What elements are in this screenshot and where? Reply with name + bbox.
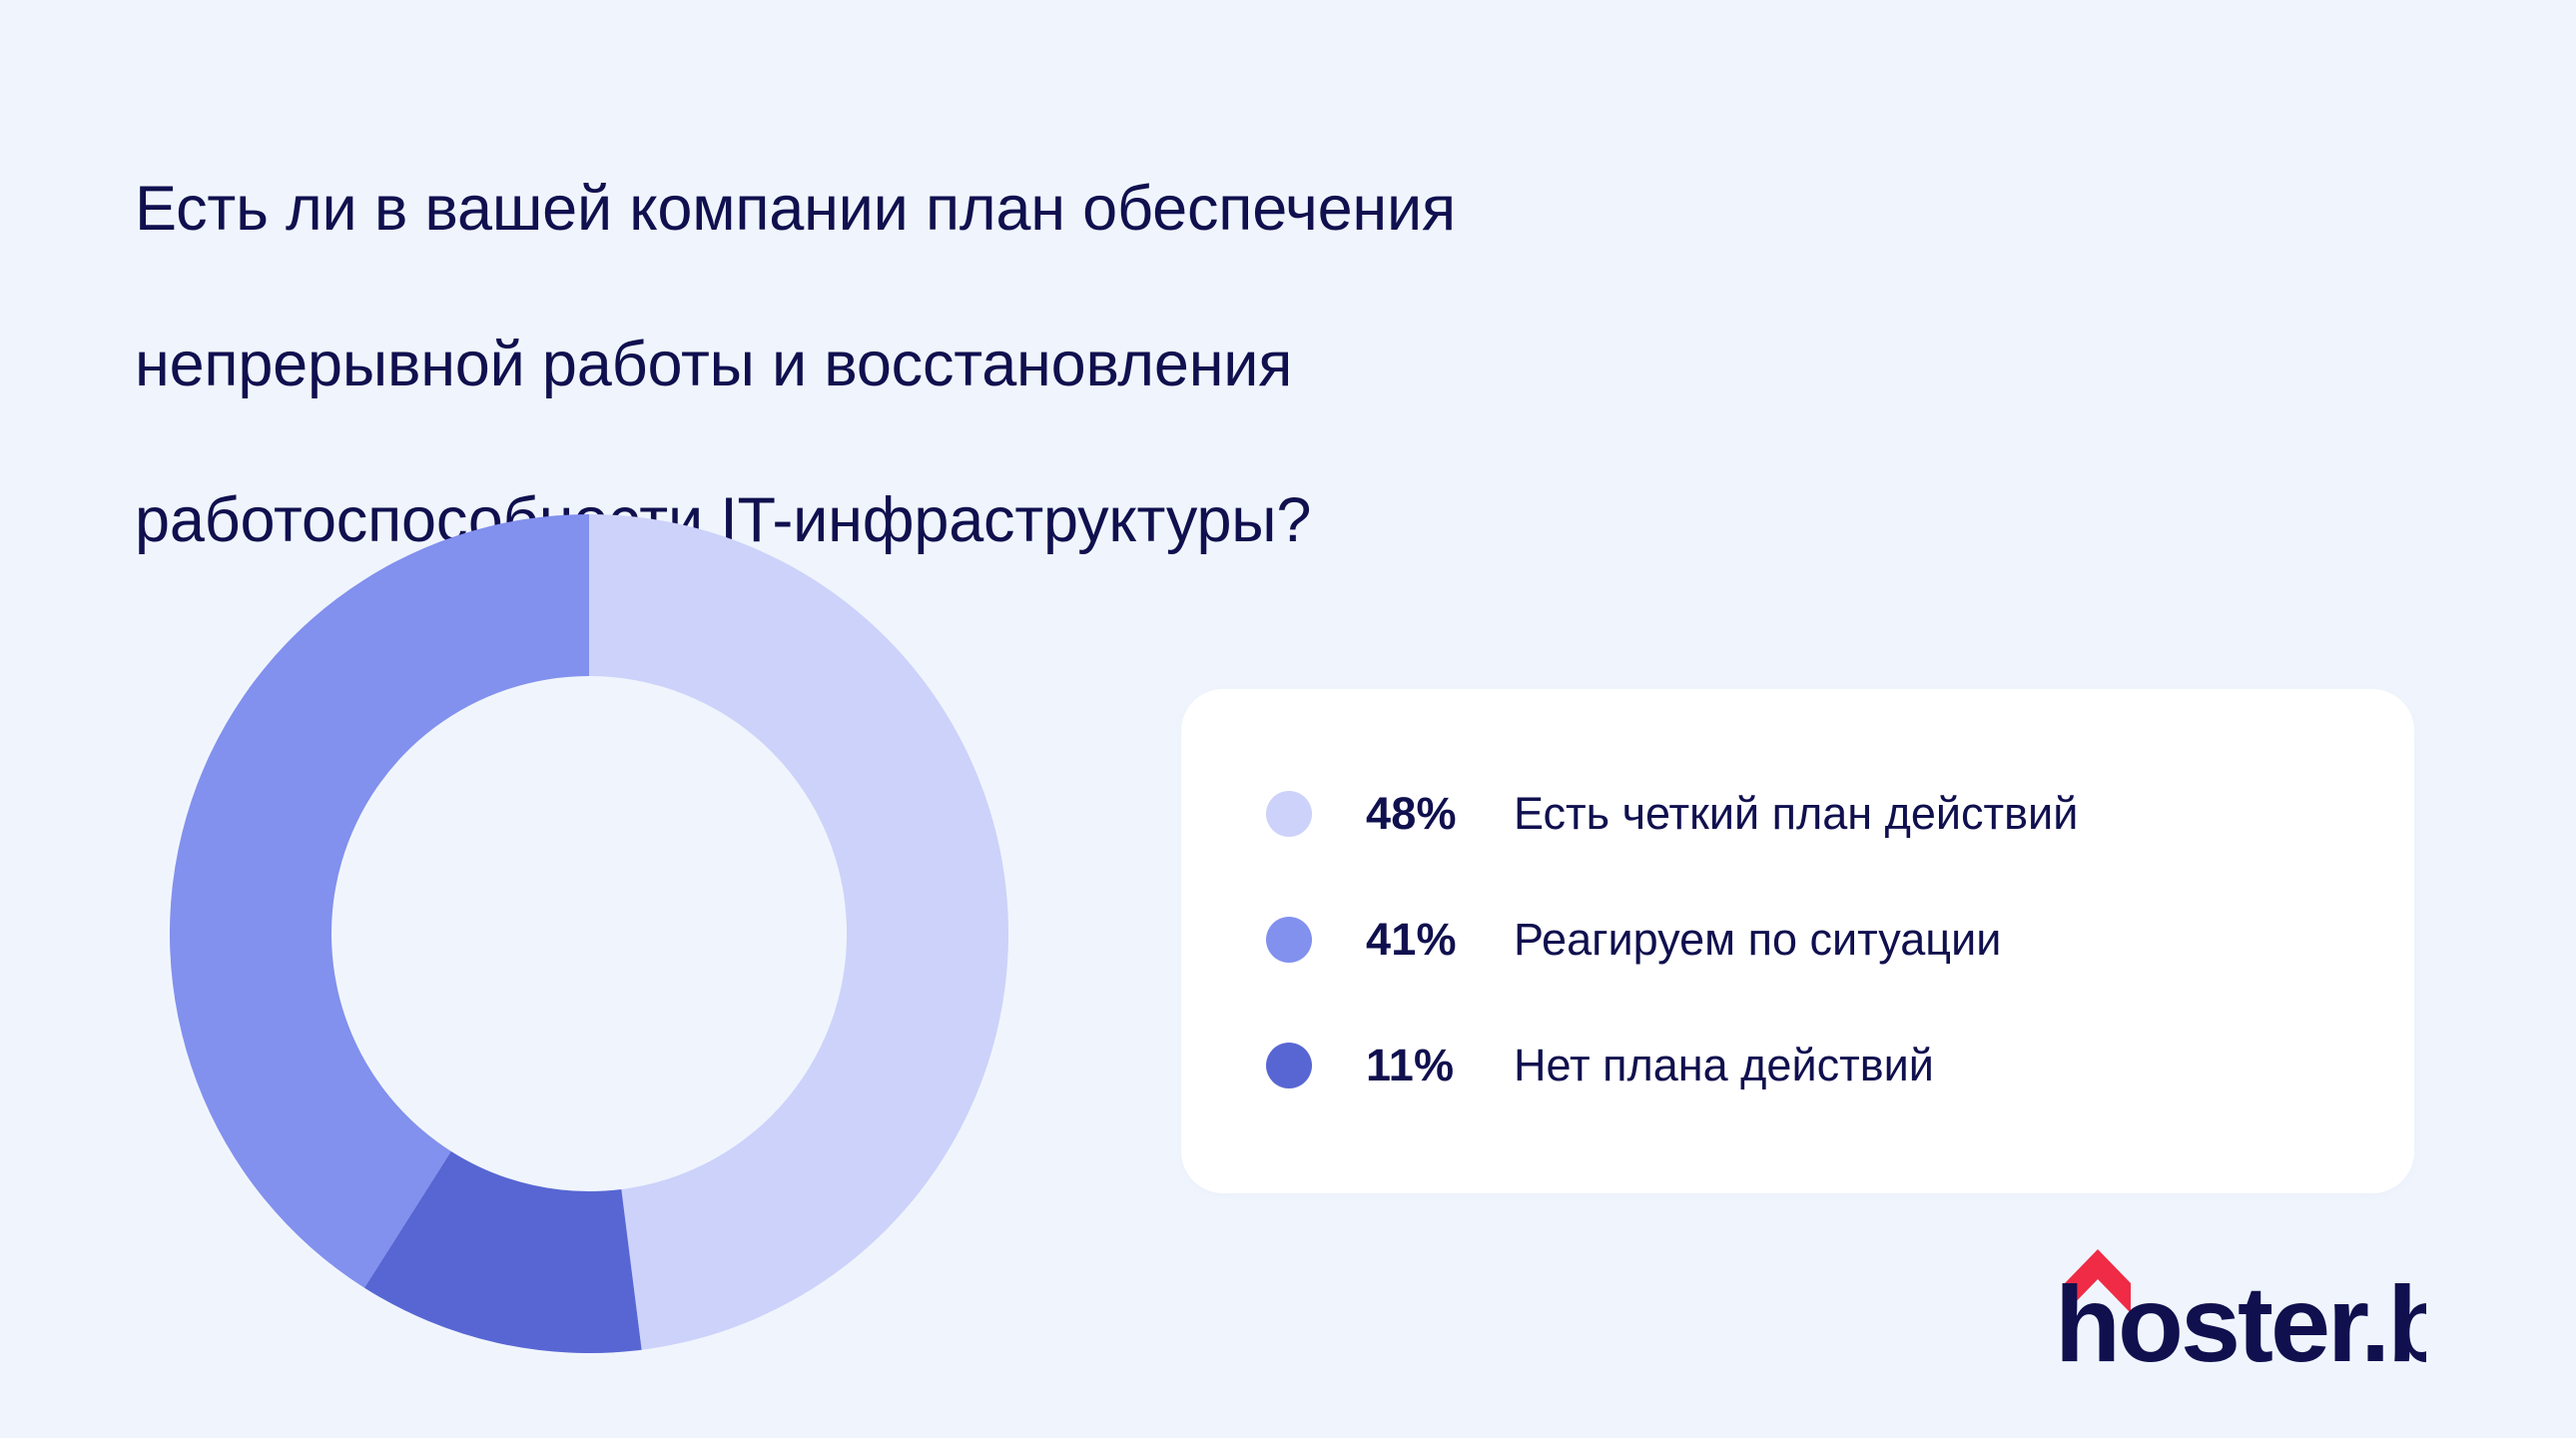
legend-swatch-icon — [1266, 917, 1312, 963]
legend-label: Реагируем по ситуации — [1514, 914, 2001, 966]
legend-item-1: 41% Реагируем по ситуации — [1266, 877, 2374, 1003]
hoster-by-logo: hoster.by — [2055, 1241, 2426, 1369]
legend-label: Нет плана действий — [1514, 1040, 1934, 1091]
page-title: Есть ли в вашей компании план обеспечени… — [135, 92, 2252, 559]
legend-percent: 48% — [1366, 788, 1514, 840]
legend-swatch-icon — [1266, 791, 1312, 837]
legend-swatch-icon — [1266, 1043, 1312, 1088]
legend-item-0: 48% Есть четкий план действий — [1266, 751, 2374, 877]
donut-chart-svg — [170, 514, 1008, 1353]
title-line-2: непрерывной работы и восстановления — [135, 330, 1292, 399]
legend-list: 48% Есть четкий план действий 41% Реагир… — [1266, 751, 2374, 1128]
legend-percent: 41% — [1366, 914, 1514, 966]
donut-slice-2 — [170, 514, 589, 1288]
legend-label: Есть четкий план действий — [1514, 788, 2078, 840]
legend-card: 48% Есть четкий план действий 41% Реагир… — [1181, 689, 2414, 1193]
donut-slice-0 — [589, 514, 1008, 1350]
title-line-1: Есть ли в вашей компании план обеспечени… — [135, 174, 1456, 244]
legend-percent: 11% — [1366, 1040, 1514, 1091]
logo-wordmark: hoster.by — [2055, 1263, 2426, 1369]
infographic-canvas: Есть ли в вашей компании план обеспечени… — [0, 0, 2576, 1438]
donut-chart — [170, 514, 1008, 1353]
logo-svg: hoster.by — [2055, 1241, 2426, 1369]
legend-item-2: 11% Нет плана действий — [1266, 1003, 2374, 1128]
